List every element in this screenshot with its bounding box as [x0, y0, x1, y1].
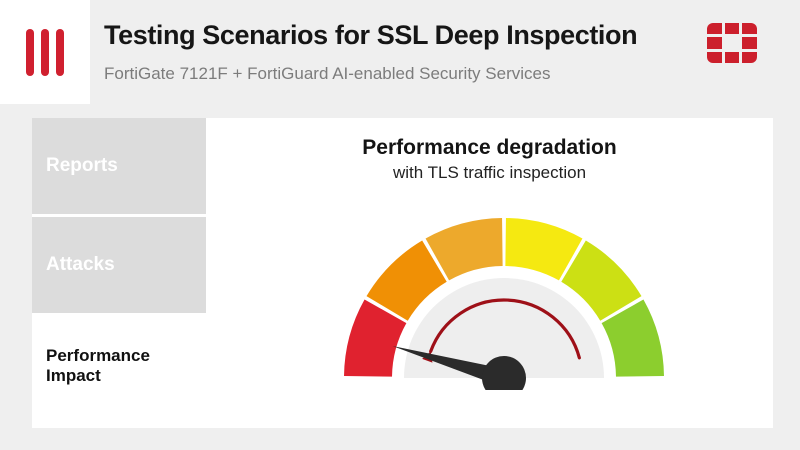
sidebar-item-performance-impact[interactable]: Performance Impact [32, 316, 206, 416]
page-subtitle: FortiGate 7121F + FortiGuard AI-enabled … [104, 64, 550, 84]
three-red-bars-icon [0, 0, 90, 104]
content-card: Reports Attacks Performance Impact Perfo… [32, 118, 773, 428]
fortinet-tile-4 [707, 37, 722, 48]
fortinet-tile-2 [725, 23, 740, 34]
chart-title: Performance degradation [206, 136, 773, 160]
fortinet-tile-6 [742, 37, 757, 48]
fortinet-tile-center-hole [725, 37, 740, 48]
page-header: Testing Scenarios for SSL Deep Inspectio… [0, 0, 800, 104]
gauge-panel: Performance degradation with TLS traffic… [206, 118, 773, 428]
logo-bar-1 [26, 29, 34, 76]
fortinet-logo-icon [707, 23, 757, 63]
logo-bar-2 [41, 29, 49, 76]
sidebar: Reports Attacks Performance Impact [32, 118, 206, 428]
sidebar-item-label: Attacks [46, 254, 115, 276]
fortinet-tile-3 [742, 23, 757, 34]
sidebar-item-label: Performance Impact [46, 346, 150, 387]
sidebar-item-attacks[interactable]: Attacks [32, 217, 206, 313]
fortinet-tile-7 [707, 52, 722, 63]
fortinet-tile-8 [725, 52, 740, 63]
sidebar-item-reports[interactable]: Reports [32, 118, 206, 214]
performance-degradation-gauge [324, 190, 684, 390]
logo-bar-3 [56, 29, 64, 76]
page-title: Testing Scenarios for SSL Deep Inspectio… [104, 20, 637, 51]
chart-subtitle: with TLS traffic inspection [206, 163, 773, 183]
fortinet-tile-9 [742, 52, 757, 63]
fortinet-tile-1 [707, 23, 722, 34]
sidebar-item-label: Reports [46, 155, 118, 177]
